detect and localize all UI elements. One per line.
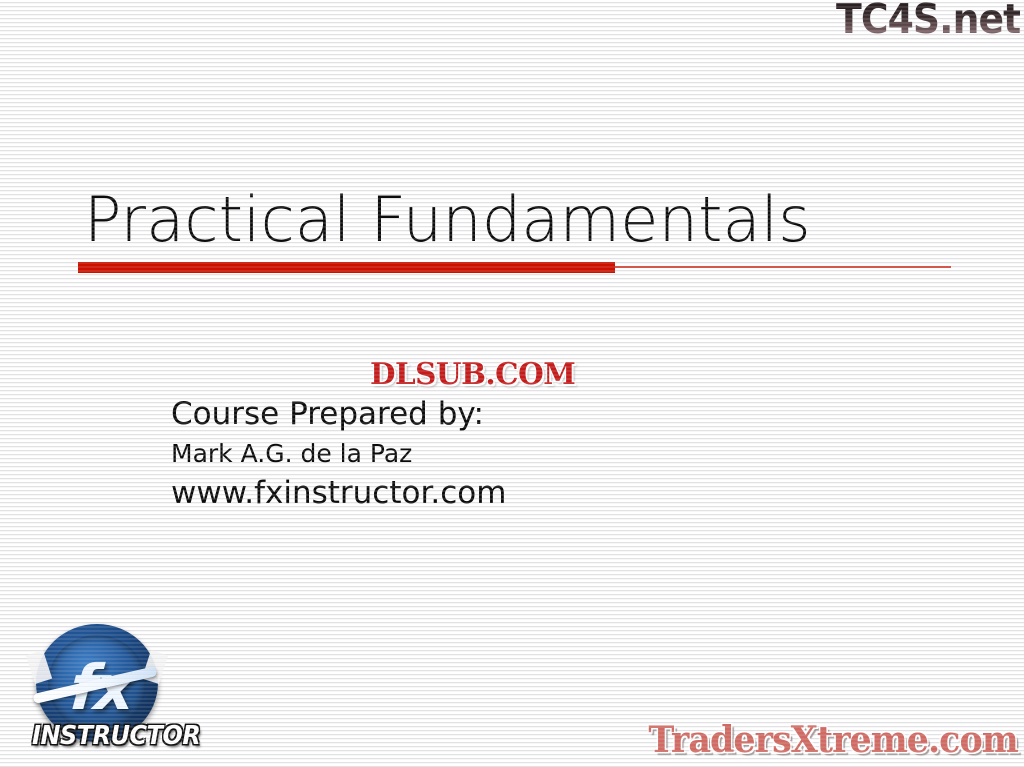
website-url: www.fxinstructor.com bbox=[171, 473, 506, 514]
divider-thick-segment bbox=[78, 262, 615, 273]
page-title: Practical Fundamentals bbox=[84, 183, 811, 257]
title-divider-rule bbox=[78, 262, 951, 273]
fx-instructor-logo: fx INSTRUCTOR bbox=[24, 622, 176, 762]
author-name: Mark A.G. de la Paz bbox=[171, 434, 506, 473]
divider-thin-segment bbox=[615, 266, 951, 268]
subtitle-block: Course Prepared by: Mark A.G. de la Paz … bbox=[171, 394, 506, 514]
course-prepared-by-label: Course Prepared by: bbox=[171, 394, 506, 434]
logo-wordmark: INSTRUCTOR bbox=[32, 720, 170, 752]
dlsub-watermark: DLSUB.COM bbox=[370, 358, 575, 392]
presentation-slide: TC4S.net Practical Fundamentals DLSUB.CO… bbox=[0, 0, 1024, 767]
tc4s-watermark: TC4S.net bbox=[836, 0, 1020, 42]
tradersxtreme-watermark: TradersXtreme.com bbox=[649, 719, 1018, 761]
